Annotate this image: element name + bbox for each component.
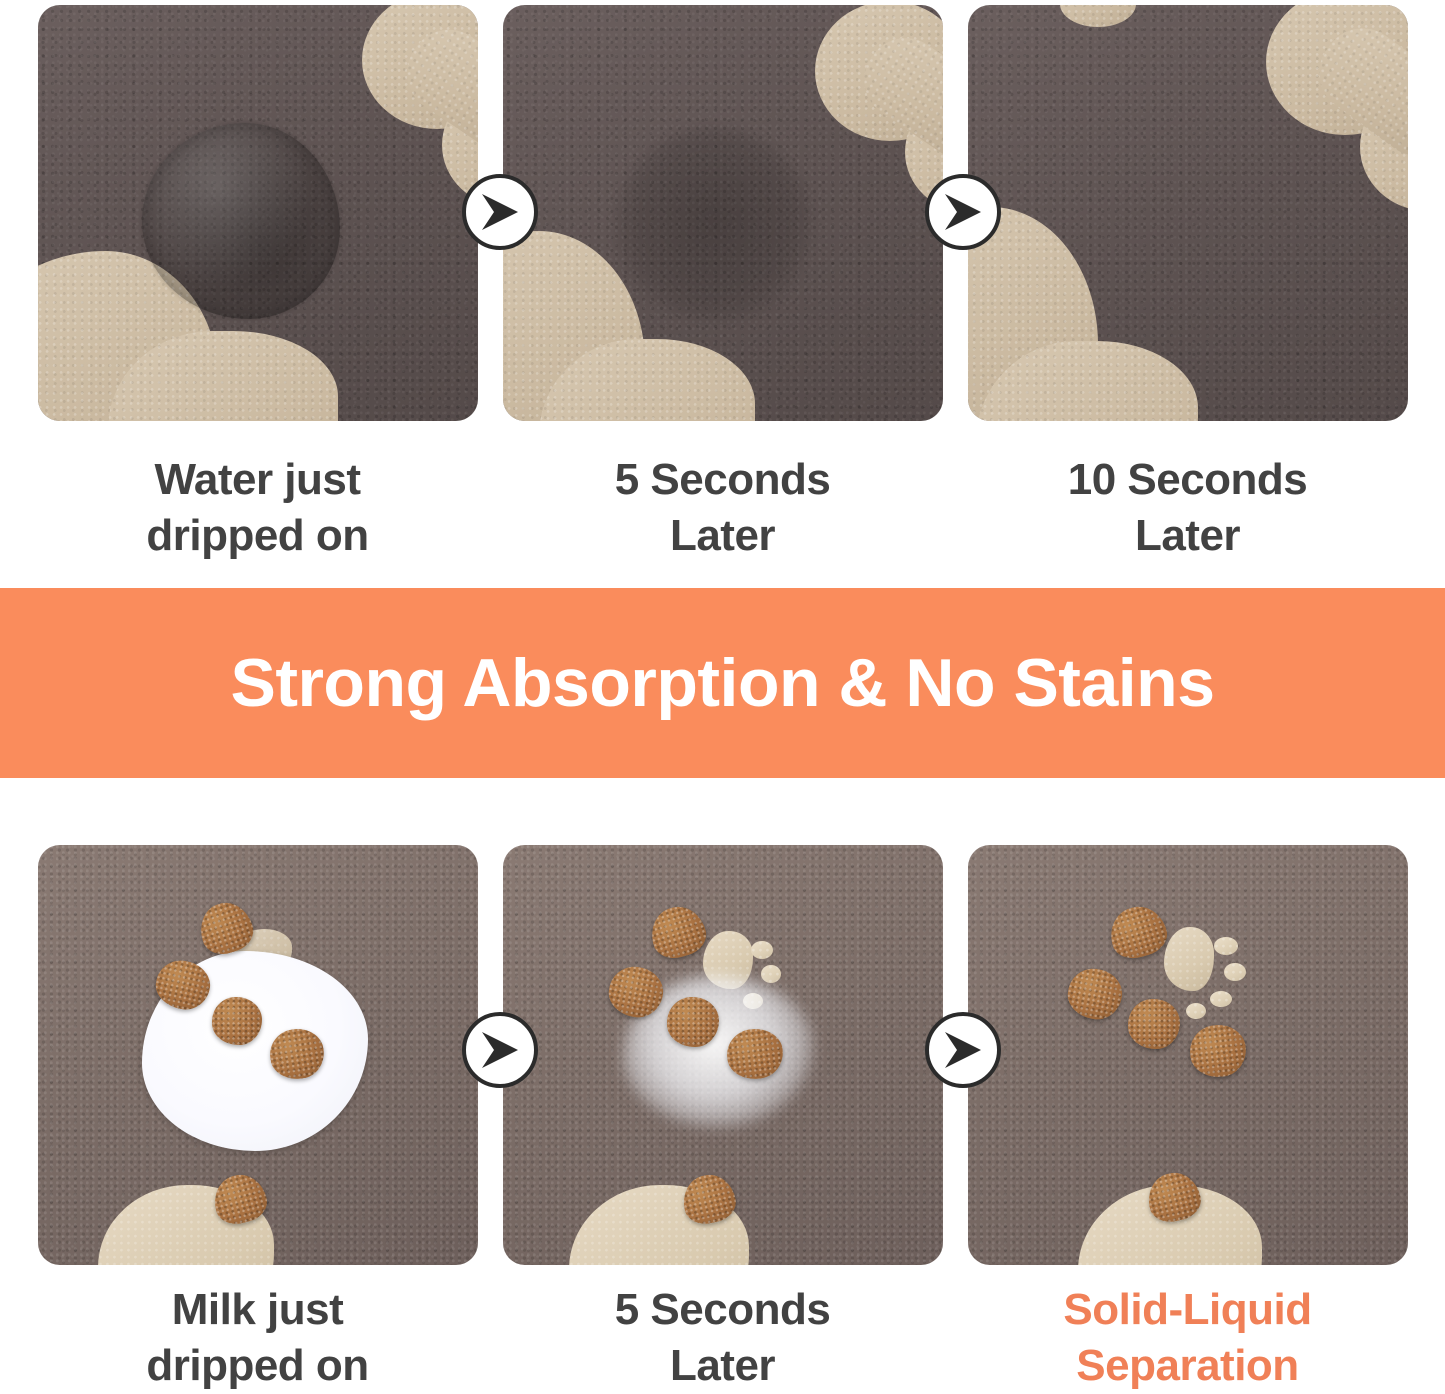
chevron-right-icon	[941, 192, 985, 232]
caption-line-1: Water just	[38, 452, 478, 508]
headline-banner: Strong Absorption & No Stains	[0, 588, 1445, 778]
milk-tile-dry	[968, 845, 1408, 1265]
water-damp-patch	[615, 127, 811, 321]
chevron-right-icon	[478, 1030, 522, 1070]
water-tile-dry	[968, 5, 1408, 421]
caption-line-2: Later	[503, 1338, 943, 1394]
kibble-piece	[1128, 999, 1180, 1049]
water-tile-wet	[38, 5, 478, 421]
chevron-right-icon	[478, 192, 522, 232]
water-sequence-row	[0, 5, 1445, 421]
headline-text: Strong Absorption & No Stains	[230, 644, 1214, 722]
water-tile-absorbing	[503, 5, 943, 421]
caption-line-2: Later	[968, 508, 1408, 564]
caption-line-1: 10 Seconds	[968, 452, 1408, 508]
caption-water-5s: 5 Seconds Later	[503, 452, 943, 565]
caption-line-1: Milk just	[38, 1282, 478, 1338]
paw-print-toe	[751, 941, 773, 959]
kibble-piece	[212, 997, 262, 1045]
caption-water-10s: 10 Seconds Later	[968, 452, 1408, 565]
caption-milk-wet: Milk just dripped on	[38, 1282, 478, 1394]
caption-line-1: 5 Seconds	[503, 1282, 943, 1338]
caption-line-2: Separation	[968, 1338, 1408, 1394]
step-arrow-2[interactable]	[925, 174, 1001, 250]
paw-print-pad	[1164, 927, 1214, 991]
step-arrow-3[interactable]	[462, 1012, 538, 1088]
product-infographic: Water just dripped on 5 Seconds Later 10…	[0, 0, 1445, 1394]
caption-solid-liquid-separation: Solid-Liquid Separation	[968, 1282, 1408, 1394]
kibble-piece	[667, 997, 719, 1047]
paw-print-toe	[1214, 937, 1238, 955]
milk-sequence-row	[0, 845, 1445, 1265]
paw-print-toe	[761, 965, 781, 983]
water-caption-row: Water just dripped on 5 Seconds Later 10…	[0, 452, 1445, 565]
step-arrow-4[interactable]	[925, 1012, 1001, 1088]
milk-tile-absorbing	[503, 845, 943, 1265]
milk-tile-wet	[38, 845, 478, 1265]
caption-line-2: Later	[503, 508, 943, 564]
caption-milk-5s: 5 Seconds Later	[503, 1282, 943, 1394]
milk-caption-row: Milk just dripped on 5 Seconds Later Sol…	[0, 1282, 1445, 1394]
chevron-right-icon	[941, 1030, 985, 1070]
caption-water-wet: Water just dripped on	[38, 452, 478, 565]
caption-line-1: Solid-Liquid	[968, 1282, 1408, 1338]
paw-print-toe	[1210, 991, 1232, 1007]
caption-line-2: dripped on	[38, 1338, 478, 1394]
step-arrow-1[interactable]	[462, 174, 538, 250]
caption-line-2: dripped on	[38, 508, 478, 564]
paw-print-toe	[1224, 963, 1246, 981]
paw-print-toe	[1186, 1003, 1206, 1019]
caption-line-1: 5 Seconds	[503, 452, 943, 508]
